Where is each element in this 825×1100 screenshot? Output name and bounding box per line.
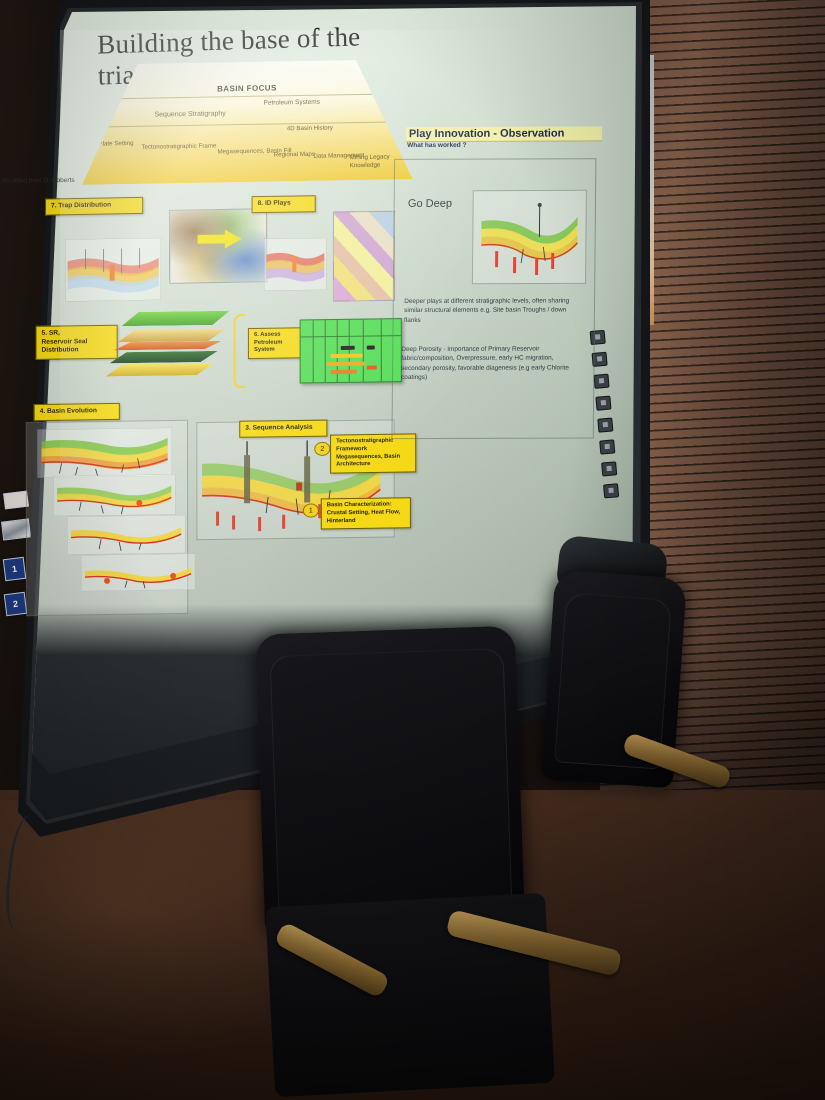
chart-bar-c	[327, 362, 365, 367]
room-scene: 1 2 Building the base of the triangle BA…	[0, 0, 825, 1100]
basin-evolution-stage-2	[53, 474, 175, 516]
slab-dark-source	[109, 351, 217, 364]
slab-green-top	[121, 311, 229, 327]
reservoir-seal-slab-stack	[121, 311, 229, 383]
chart-bar-f	[367, 365, 377, 369]
pyramid-row-2: Sequence Stratigraphy Petroleum Systems	[82, 107, 412, 113]
pyramid-row-3: Plate Setting Tectonostratigraphic Frame…	[82, 135, 412, 141]
office-chair-front[interactable]	[250, 630, 670, 1100]
basin-evolution-stage-4	[81, 554, 195, 592]
regional-geology-map	[169, 208, 267, 284]
chair-front-back-panel	[270, 648, 513, 916]
pyramid-item-plate-setting: Plate Setting	[98, 140, 133, 148]
slab-orange-reservoir	[113, 341, 221, 351]
go-deep-paragraph-1: Deeper plays at different stratigraphic …	[404, 296, 583, 324]
id-plays-section-diagram	[264, 238, 326, 291]
label-id-plays[interactable]: 8. ID Plays	[252, 195, 316, 212]
callout-marker-1-label: 1	[309, 507, 313, 514]
play-innovation-title: Play Innovation - Observation	[406, 126, 602, 142]
chart-bar-a	[341, 346, 355, 350]
callout-marker-2-label: 2	[320, 445, 324, 452]
pyramid-item-regional-maps: Regional Maps	[274, 151, 315, 159]
go-deep-paragraph-2: Deep Porosity - Importance of Primary Re…	[401, 344, 580, 382]
play-innovation-subtitle: What has worked ?	[407, 142, 466, 149]
pyramid-petroleum-systems: Petroleum Systems	[263, 99, 319, 107]
deep-basin-cross-section	[473, 191, 586, 283]
go-deep-diagram-box	[472, 190, 587, 284]
label-reservoir-seal-distribution[interactable]: 5. SR, Reservoir Seal Distribution	[36, 325, 118, 360]
chart-bar-d	[331, 370, 357, 374]
brace-bracket	[233, 314, 245, 388]
pyramid-item-tectonostratigraphic: Tectonostratigraphic Frame	[141, 142, 216, 151]
label-trap-distribution[interactable]: 7. Trap Distribution	[45, 197, 143, 215]
pyramid-item-4d-basin-history: 4D Basin History	[287, 124, 333, 133]
slide-content: Building the base of the triangle BASIN …	[4, 5, 640, 680]
chart-bar-b	[331, 354, 363, 358]
label-sequence-analysis[interactable]: 3. Sequence Analysis	[239, 420, 327, 438]
callout-tectonostratigraphic-framework[interactable]: Tectonostratigraphic Framework Megaseque…	[330, 433, 416, 473]
pyramid-sequence-stratigraphy: Sequence Stratigraphy	[154, 110, 225, 118]
go-deep-heading: Go Deep	[408, 198, 452, 210]
callout-basin-characterization[interactable]: Basin Characterization: Crustal Setting,…	[321, 497, 411, 530]
slab-tan-seal	[117, 329, 225, 343]
basin-evolution-stage-1	[37, 428, 171, 478]
label-assess-petroleum-system[interactable]: 6. Assess Petroleum System	[248, 327, 304, 358]
trap-distribution-section-diagram	[65, 238, 160, 302]
slide-credit: Modified from D. Roberts	[2, 177, 74, 185]
label-basin-evolution[interactable]: 4. Basin Evolution	[34, 403, 120, 421]
petroleum-system-chart	[300, 318, 402, 383]
slab-yellow-base	[105, 363, 213, 377]
chart-bar-e	[367, 345, 375, 349]
basin-evolution-stage-3	[67, 515, 185, 555]
play-fairway-map	[333, 211, 395, 302]
